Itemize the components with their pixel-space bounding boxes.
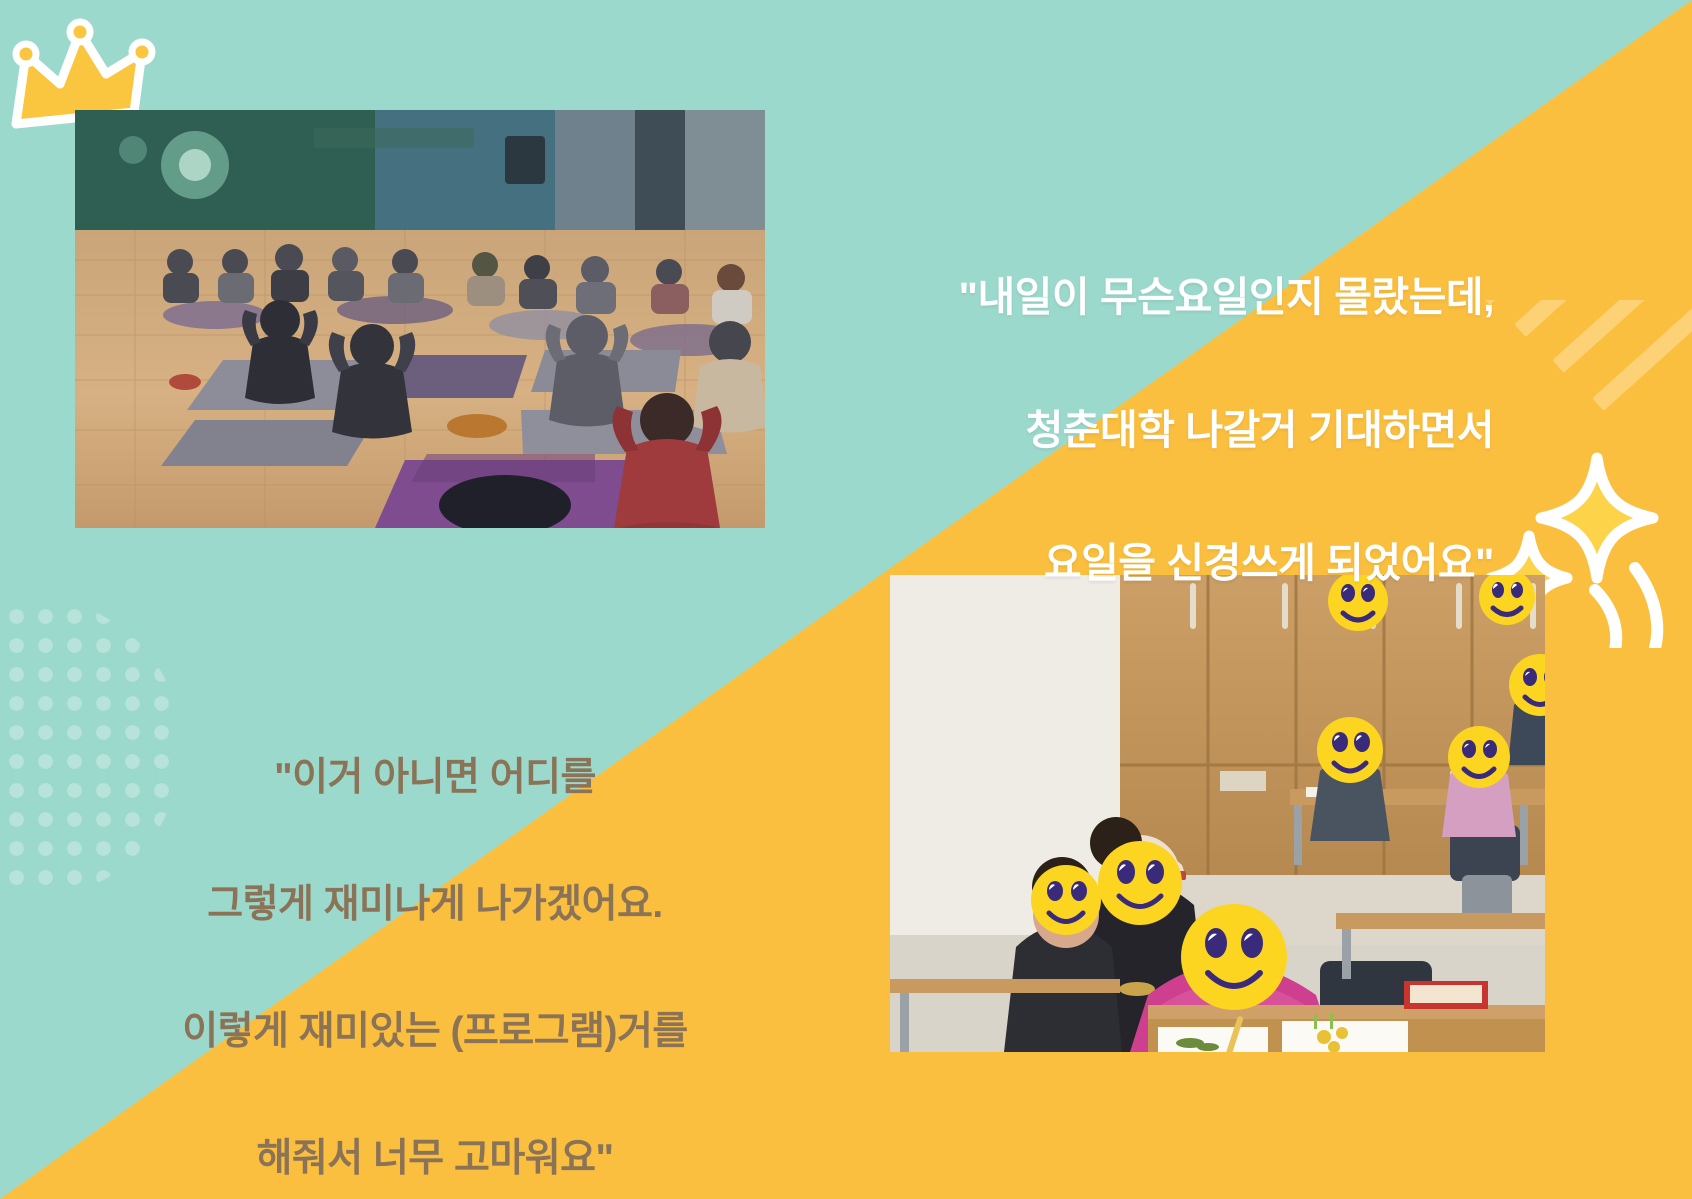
quote-right: "내일이 무슨요일인지 몰랐는데, 청춘대학 나갈거 기대하면서 요일을 신경쓰… xyxy=(959,198,1494,663)
poster-canvas: "내일이 무슨요일인지 몰랐는데, 청춘대학 나갈거 기대하면서 요일을 신경쓰… xyxy=(0,0,1692,1199)
quote-right-line-3: 요일을 신경쓰게 되었어요" xyxy=(959,530,1494,596)
photo-yoga-class xyxy=(75,110,765,528)
quote-right-line-2: 청춘대학 나갈거 기대하면서 xyxy=(959,397,1494,463)
quote-left-line-2: 그렇게 재미나게 나가겠어요. xyxy=(95,873,775,937)
quote-left-line-1: "이거 아니면 어디를 xyxy=(95,746,775,810)
quote-left-line-3: 이렇게 재미있는 (프로그램)거를 xyxy=(95,1000,775,1064)
quote-right-line-1: "내일이 무슨요일인지 몰랐는데, xyxy=(959,264,1494,330)
quote-left: "이거 아니면 어디를 그렇게 재미나게 나가겠어요. 이렇게 재미있는 (프로… xyxy=(95,682,775,1199)
quote-left-line-4: 해줘서 너무 고마워요" xyxy=(95,1127,775,1191)
